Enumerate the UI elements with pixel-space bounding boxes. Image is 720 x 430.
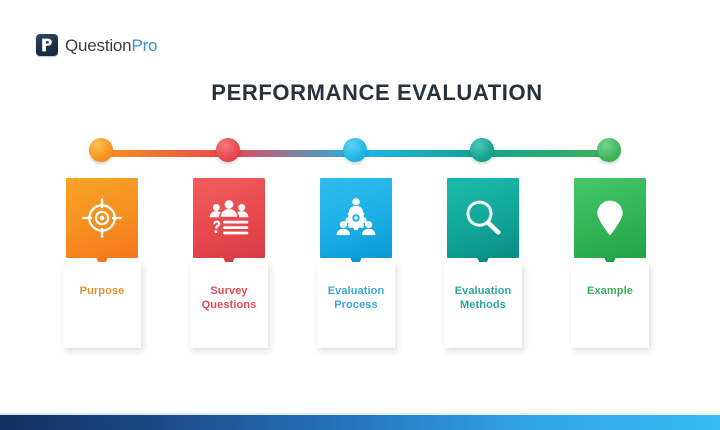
step-label-evaluation-methods: Evaluation Methods [444,284,522,312]
logo-wordmark: QuestionPro [65,37,157,54]
timeline-node-evaluation-process[interactable] [343,138,367,162]
step-label-purpose: Purpose [63,284,141,298]
timeline-segment-4 [481,150,611,157]
timeline-node-survey-questions[interactable] [216,138,240,162]
location-pin-icon [589,197,631,239]
step-label-example: Example [571,284,649,298]
step-card-evaluation-process[interactable]: Evaluation Process [320,178,392,258]
logo-word-question: Question [65,36,131,55]
step-header-purpose [66,178,138,258]
step-label-evaluation-process: Evaluation Process [317,284,395,312]
step-card-example[interactable]: Example [574,178,646,258]
timeline-segment-1 [100,150,230,157]
logo-word-pro: Pro [131,36,157,55]
step-card-purpose[interactable]: Purpose [66,178,138,258]
people-question-lines-icon [208,197,250,239]
timeline-node-purpose[interactable] [89,138,113,162]
step-card-survey-questions[interactable]: Survey Questions [193,178,265,258]
step-body-evaluation-process: Evaluation Process [317,262,395,348]
step-body-evaluation-methods: Evaluation Methods [444,262,522,348]
step-label-line2: Process [334,299,378,311]
timeline-node-evaluation-methods[interactable] [470,138,494,162]
step-label-line1: Evaluation [328,285,385,297]
magnifying-glass-icon [462,197,504,239]
page-title: PERFORMANCE EVALUATION [0,80,720,106]
timeline-node-example[interactable] [597,138,621,162]
step-label-survey-questions: Survey Questions [190,284,268,312]
step-label-line1: Survey [210,285,247,297]
step-body-purpose: Purpose [63,262,141,348]
step-header-evaluation-methods [447,178,519,258]
step-label-line2: Questions [202,299,257,311]
people-gear-network-icon [335,197,377,239]
timeline [0,138,720,168]
step-label-line1: Evaluation [455,285,512,297]
target-crosshair-icon [81,197,123,239]
step-header-survey-questions [193,178,265,258]
step-body-survey-questions: Survey Questions [190,262,268,348]
timeline-segment-3 [354,150,484,157]
questionpro-p-mark-icon [36,34,58,56]
slide-canvas: QuestionPro PERFORMANCE EVALUATION [0,0,720,430]
footer-gradient-bar [0,415,720,430]
step-header-evaluation-process [320,178,392,258]
step-label-line2: Methods [460,299,506,311]
letter-p-glyph-icon [41,38,53,52]
questionpro-logo: QuestionPro [36,34,157,56]
step-card-evaluation-methods[interactable]: Evaluation Methods [447,178,519,258]
step-body-example: Example [571,262,649,348]
step-label-line1: Example [587,285,633,297]
steps-row: Purpose [0,178,720,353]
step-label-line1: Purpose [80,285,125,297]
step-header-example [574,178,646,258]
timeline-segment-2 [227,150,357,157]
